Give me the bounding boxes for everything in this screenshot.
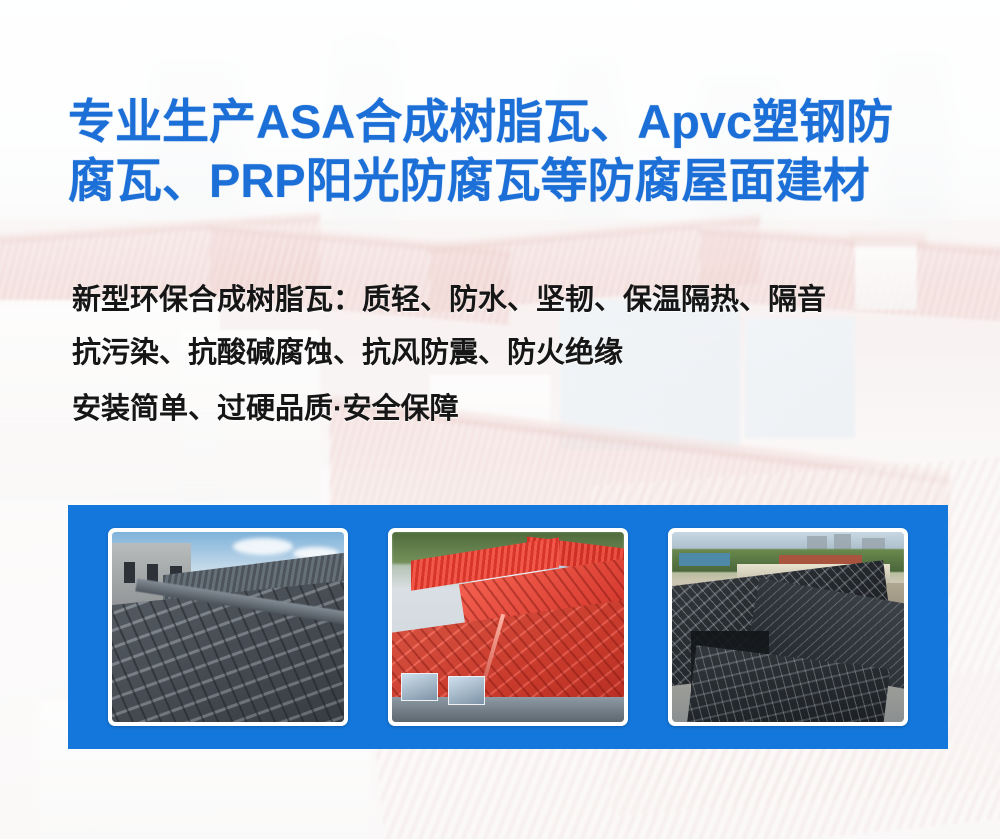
product-banner: 专业生产ASA合成树脂瓦、Apvc塑钢防 腐瓦、PRP阳光防腐瓦等防腐屋面建材 … [0, 0, 1000, 839]
photo-window [124, 562, 136, 583]
subheadline-3: 安装简单、过硬品质·安全保障 [72, 383, 952, 436]
red-resin-tile-roof-villa-photo [392, 532, 624, 722]
subheadline-group: 新型环保合成树脂瓦：质轻、防水、坚韧、保温隔热、隔音 抗污染、抗酸碱腐蚀、抗风防… [72, 274, 952, 436]
gallery-photo-card-1[interactable] [108, 528, 348, 726]
headline-line-2: 腐瓦、PRP阳光防腐瓦等防腐屋面建材 [68, 151, 948, 210]
photo-cloud [233, 538, 293, 555]
photo-red-roof-house [779, 555, 863, 565]
grey-resin-tile-roof-courtyard-photo [112, 532, 344, 722]
black-resin-tile-roof-village-photo [672, 532, 904, 722]
headline: 专业生产ASA合成树脂瓦、Apvc塑钢防 腐瓦、PRP阳光防腐瓦等防腐屋面建材 [68, 92, 948, 210]
gallery-frame [68, 505, 948, 749]
gallery-photo-card-2[interactable] [388, 528, 628, 726]
photo-window [401, 673, 438, 702]
subheadline-1: 新型环保合成树脂瓦：质轻、防水、坚韧、保温隔热、隔音 [72, 274, 952, 327]
photo-window [448, 676, 485, 705]
headline-line-1: 专业生产ASA合成树脂瓦、Apvc塑钢防 [68, 92, 948, 151]
subheadline-2: 抗污染、抗酸碱腐蚀、抗风防震、防火绝缘 [72, 327, 952, 380]
photo-blue-roof-house [679, 553, 730, 566]
gallery-photo-card-3[interactable] [668, 528, 908, 726]
